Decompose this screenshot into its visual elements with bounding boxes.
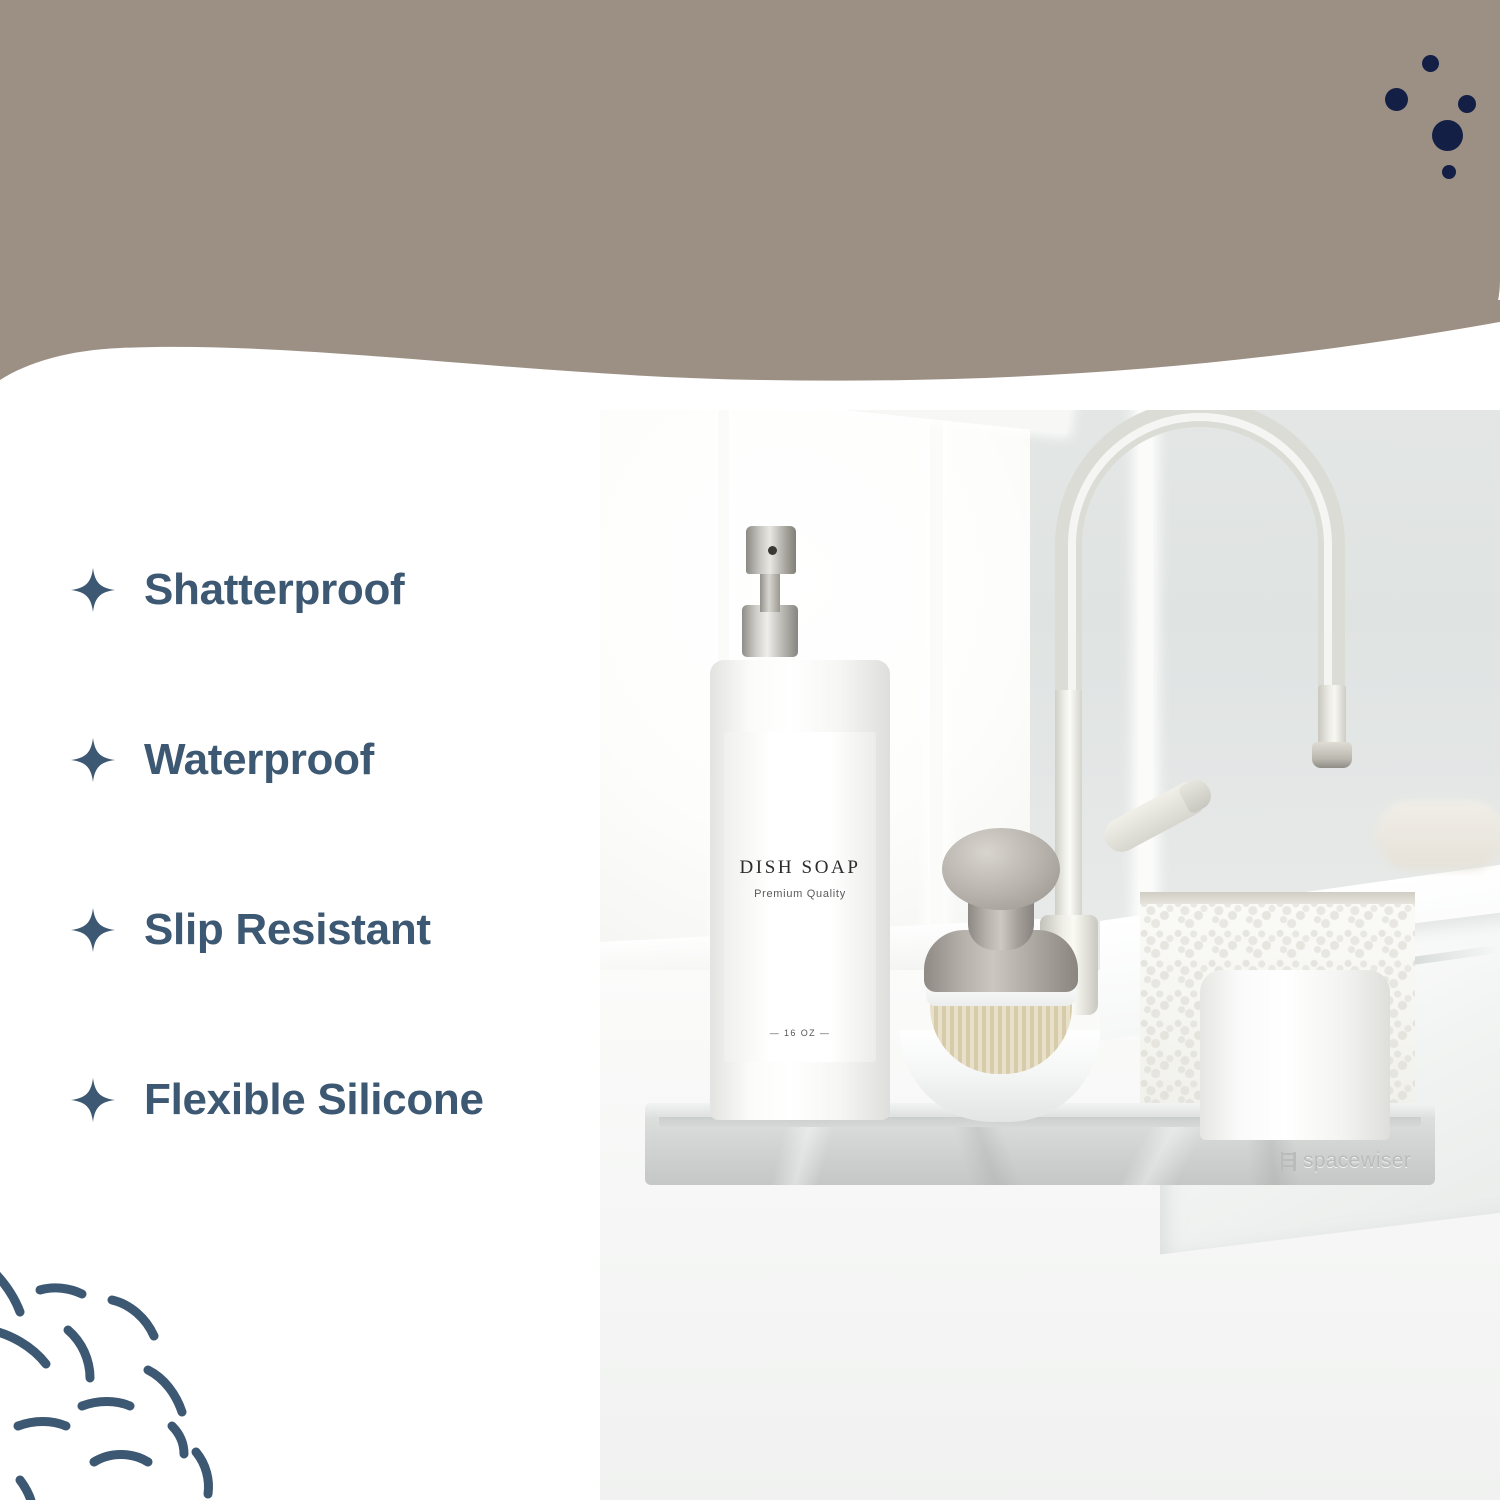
tray-logo-text: spacewiser: [1303, 1149, 1411, 1173]
tray-embossed-logo: spacewiser: [1281, 1149, 1411, 1173]
decorative-dots: [1380, 55, 1490, 200]
dot: [1385, 88, 1408, 111]
sponge-top-edge: [1140, 892, 1415, 904]
feature-label: Waterproof: [144, 735, 374, 785]
bottle-label-subtitle: Premium Quality: [754, 888, 846, 900]
sparkle-icon: [70, 567, 116, 613]
bottle-label-title: DISH SOAP: [739, 857, 860, 879]
pump-nozzle: [768, 546, 777, 555]
feature-item: Slip Resistant: [70, 900, 630, 960]
sparkle-icon: [70, 737, 116, 783]
feature-item: Waterproof: [70, 730, 630, 790]
feature-list: Shatterproof Waterproof Slip Resistant F…: [70, 560, 630, 1130]
window-mullion-vertical: [930, 330, 943, 970]
faucet-spout: [1318, 685, 1346, 747]
pump-stem: [760, 568, 780, 612]
feature-label: Flexible Silicone: [144, 1075, 484, 1125]
dot: [1432, 120, 1463, 151]
feature-label: Shatterproof: [144, 565, 404, 615]
white-cup: [1200, 970, 1390, 1140]
faucet-aerator: [1312, 742, 1352, 768]
faucet-arc: [1055, 400, 1345, 700]
background-object: [1375, 800, 1500, 870]
pump-collar: [742, 605, 798, 657]
soap-dispenser-bottle: DISH SOAP Premium Quality — 16 OZ —: [710, 660, 890, 1120]
bottle-label-volume: — 16 OZ —: [770, 1028, 831, 1038]
swirl-decoration: [0, 1230, 240, 1500]
dot: [1458, 95, 1476, 113]
dot: [1422, 55, 1439, 72]
shelf-icon: [1281, 1152, 1296, 1171]
dot: [1442, 165, 1456, 179]
sparkle-icon: [70, 1077, 116, 1123]
product-banner: spacewiser DISH SOAP Premium Quality — 1…: [0, 0, 1500, 1500]
feature-label: Slip Resistant: [144, 905, 431, 955]
header-wave-edge: [0, 300, 1500, 410]
sparkle-icon: [70, 907, 116, 953]
feature-item: Flexible Silicone: [70, 1070, 630, 1130]
feature-item: Shatterproof: [70, 560, 630, 620]
brush-knob: [942, 828, 1060, 910]
bottle-label: DISH SOAP Premium Quality — 16 OZ —: [724, 732, 876, 1062]
product-photo: spacewiser DISH SOAP Premium Quality — 1…: [600, 330, 1500, 1500]
